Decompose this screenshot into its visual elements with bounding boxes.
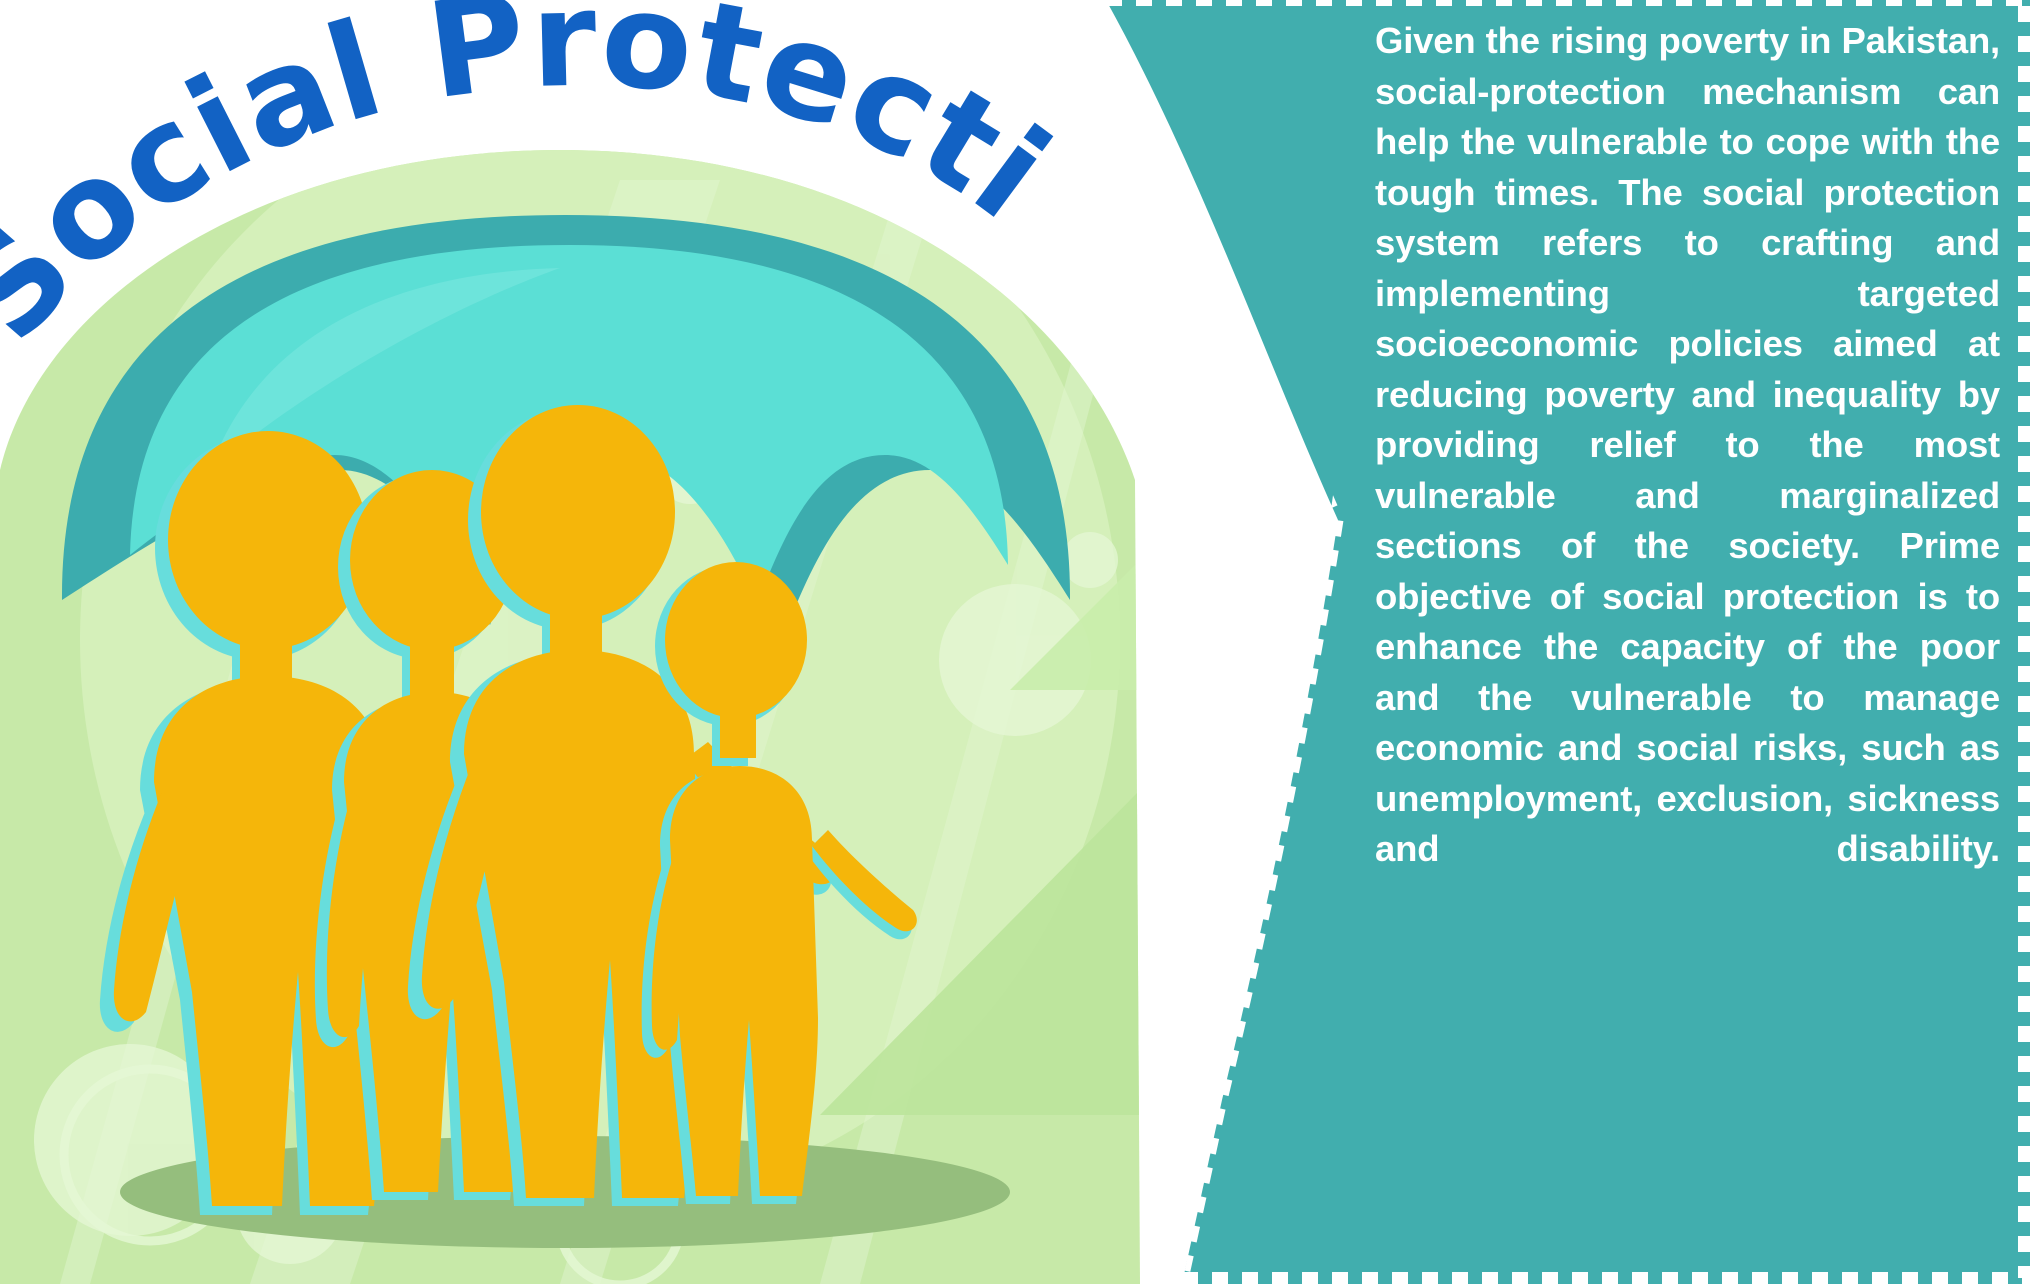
description-paragraph: Given the rising poverty in Pakistan, so… [1375,16,2000,925]
illustration-panel [0,0,1140,1284]
infographic-canvas: Social Protection [0,0,2030,1284]
description-panel: Given the rising poverty in Pakistan, so… [1070,0,2030,1284]
